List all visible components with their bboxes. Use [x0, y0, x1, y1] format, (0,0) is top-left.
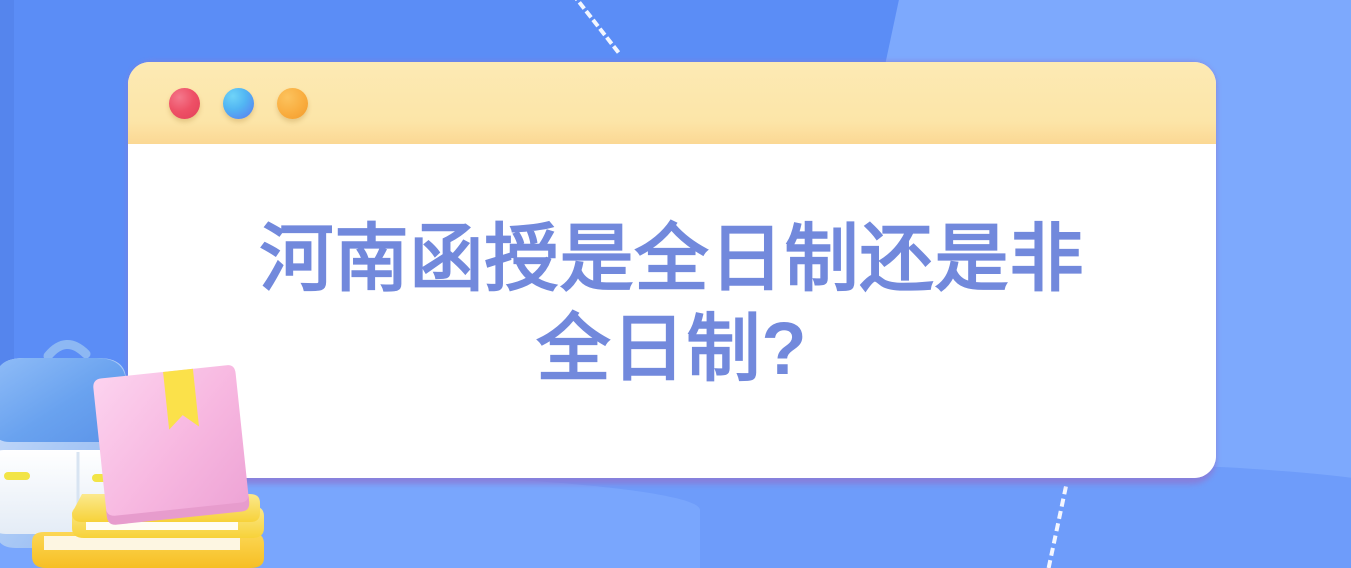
background-right-panel	[1211, 0, 1351, 500]
backpack-and-books-illustration	[0, 328, 326, 568]
poster-canvas: 河南函授是全日制还是非 全日制?	[0, 0, 1351, 568]
headline-line-1: 河南函授是全日制还是非	[260, 214, 1085, 304]
close-dot-icon[interactable]	[169, 88, 200, 119]
dashed-line-top-icon	[564, 0, 620, 54]
browser-titlebar	[128, 62, 1216, 144]
headline-line-2: 全日制?	[536, 304, 807, 394]
minimize-dot-icon[interactable]	[223, 88, 254, 119]
maximize-dot-icon[interactable]	[277, 88, 308, 119]
